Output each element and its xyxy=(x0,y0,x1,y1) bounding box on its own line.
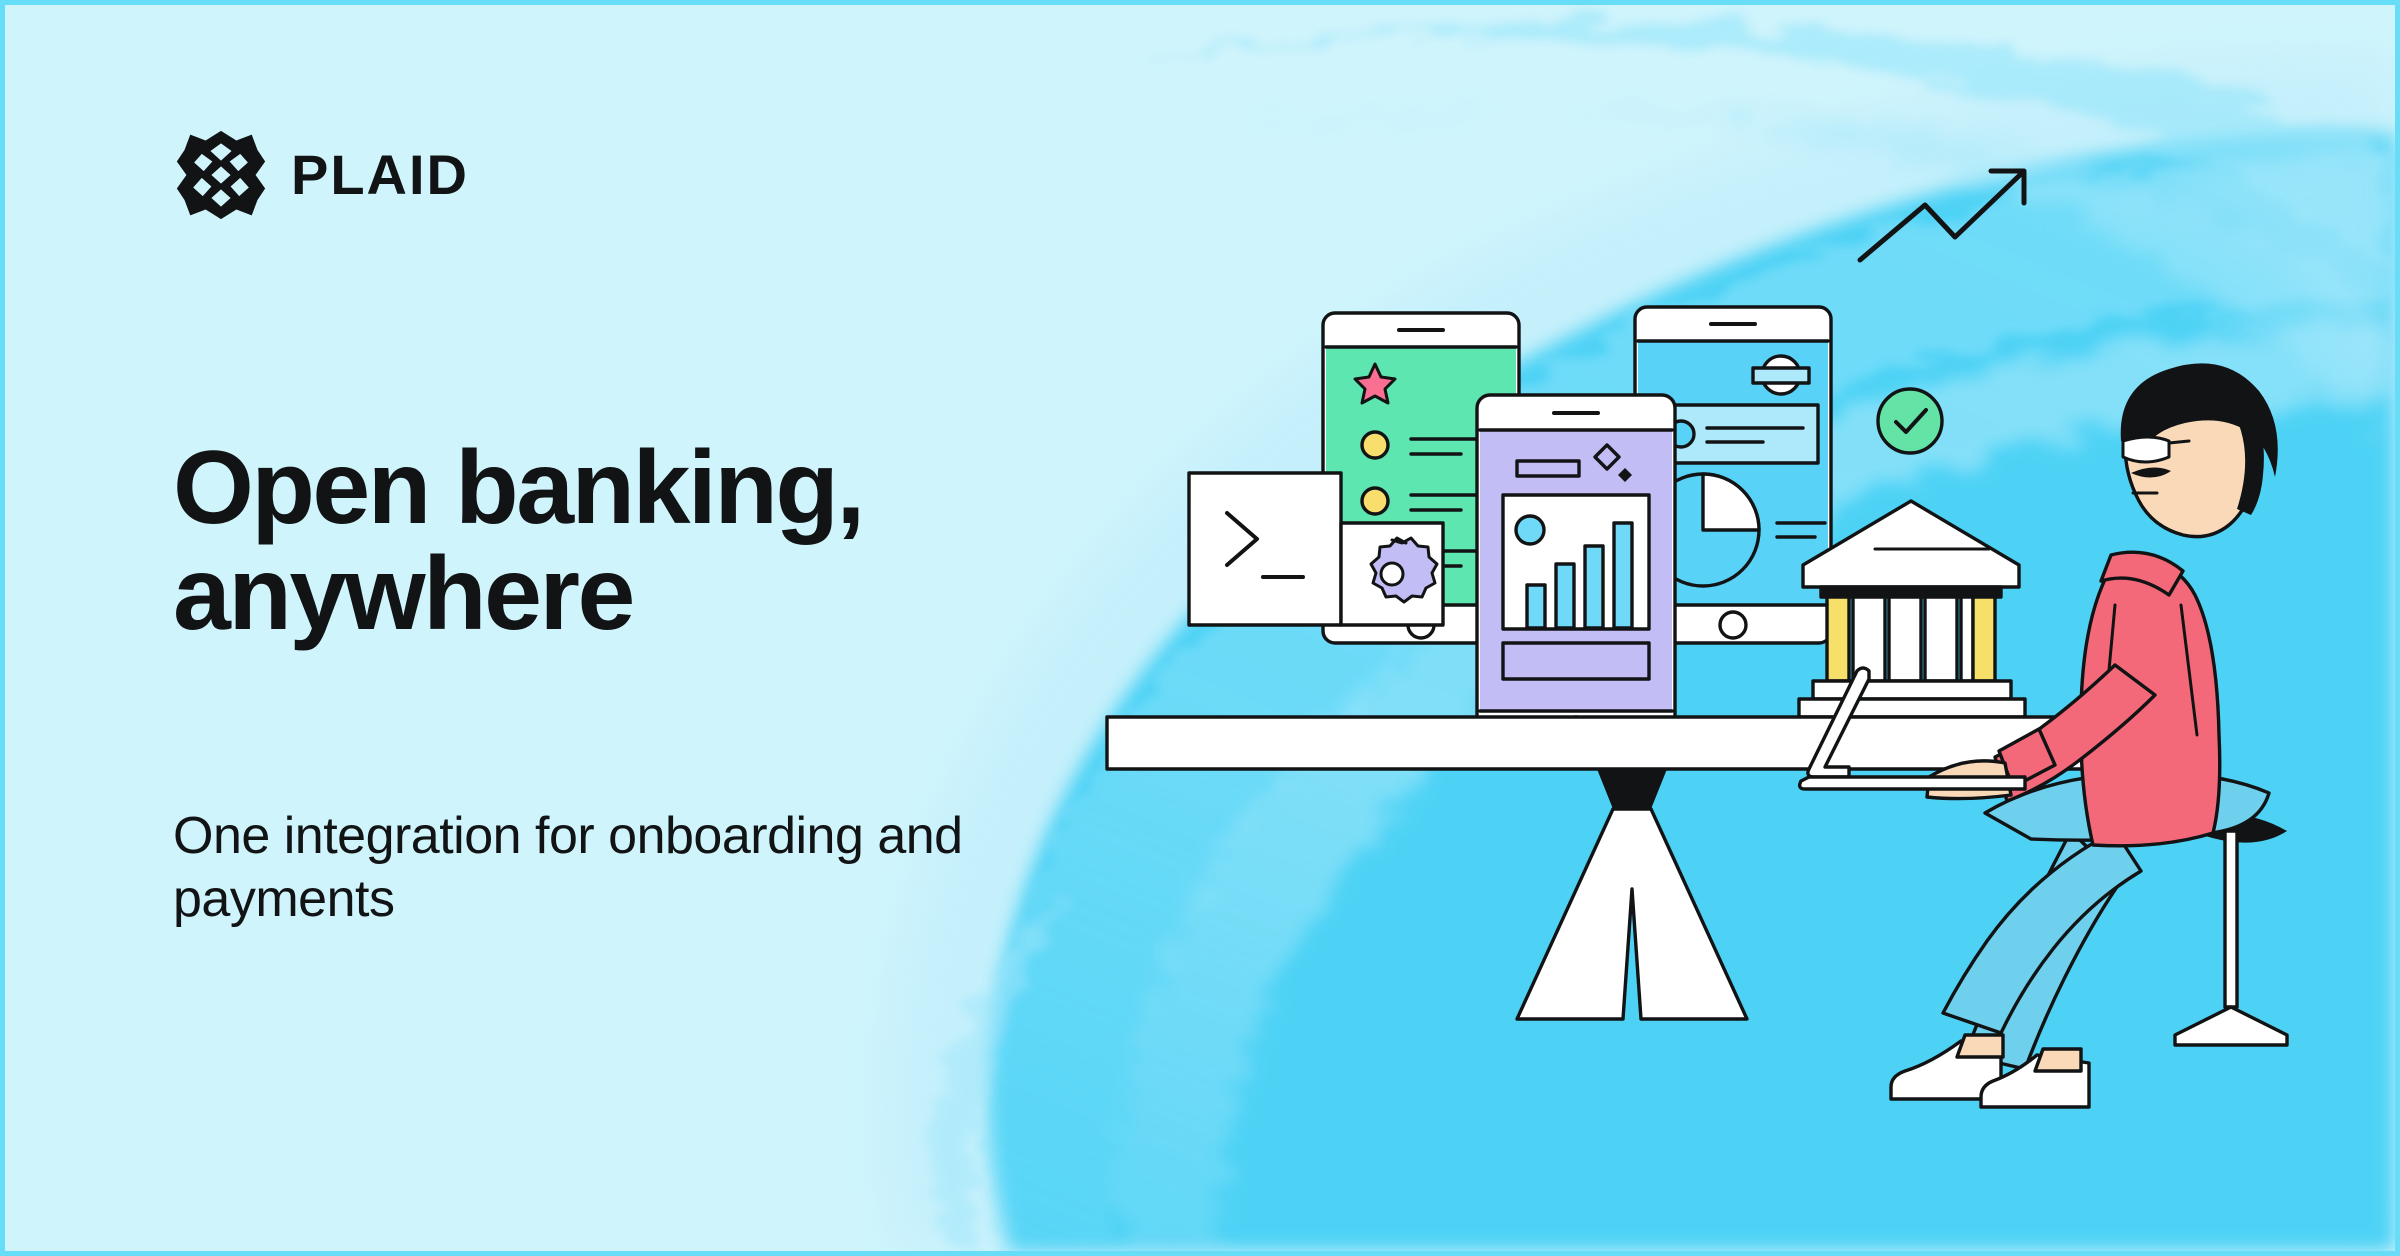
plaid-lattice-logo-icon xyxy=(173,127,269,223)
check-badge xyxy=(1878,389,1942,453)
brand-wordmark: PLAID xyxy=(291,147,469,203)
purple-phone xyxy=(1477,395,1675,747)
arrow-up-right-icon xyxy=(1860,173,2022,260)
purple-footer-bar xyxy=(1503,643,1649,679)
hero-banner: PLAID Open banking, anywhere One integra… xyxy=(0,0,2400,1256)
page-subtitle: One integration for onboarding and payme… xyxy=(173,805,973,932)
terminal-card xyxy=(1189,473,1341,625)
bar xyxy=(1556,564,1574,628)
bar xyxy=(1585,546,1603,628)
hero-illustration xyxy=(1085,265,2375,1185)
brand-logo[interactable]: PLAID xyxy=(173,127,469,223)
bank-building xyxy=(1799,501,2025,717)
bar xyxy=(1614,523,1632,628)
page-title: Open banking, anywhere xyxy=(173,435,1053,647)
balance-scale-open-banking-illustration xyxy=(1085,265,2375,1185)
blue-circle-icon xyxy=(1516,516,1544,544)
bar xyxy=(1527,585,1545,628)
trend-arrow xyxy=(1860,171,2024,260)
gear-card xyxy=(1341,523,1443,625)
hero-content: PLAID Open banking, anywhere One integra… xyxy=(5,5,1105,1251)
stool-icon xyxy=(2175,814,2287,1045)
pill-bar xyxy=(1517,461,1579,476)
bar-chart-card xyxy=(1503,495,1649,629)
